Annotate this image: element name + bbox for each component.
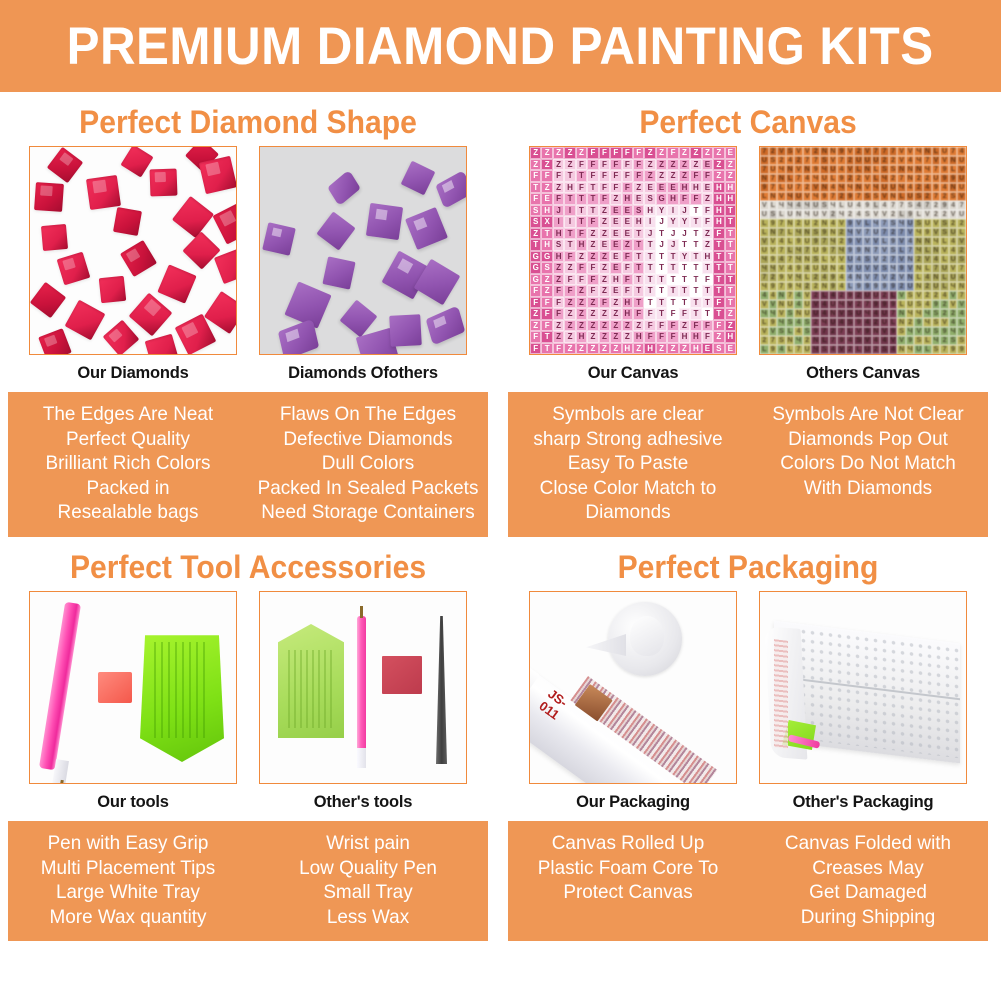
- canvas-symbol-cell: 9: [949, 345, 958, 354]
- canvas-symbol-cell: S: [541, 262, 552, 274]
- canvas-symbol-cell: T: [725, 205, 736, 217]
- canvas-symbol-cell: V: [803, 147, 812, 156]
- canvas-symbol-cell: Y: [656, 205, 667, 217]
- facet: [108, 328, 123, 343]
- canvas-symbol-cell: 9: [846, 219, 855, 228]
- canvas-symbol-cell: Z: [587, 320, 598, 332]
- canvas-symbol-cell: E: [610, 216, 621, 228]
- canvas-symbol-cell: N: [949, 183, 958, 192]
- canvas-symbol-cell: V: [897, 147, 906, 156]
- info-line: Defective Diamonds: [254, 427, 483, 452]
- canvas-symbol-cell: U: [957, 156, 966, 165]
- canvas-symbol-cell: Z: [587, 297, 598, 309]
- info-line: Wrist pain: [254, 831, 483, 856]
- canvas-symbol-cell: 2: [932, 201, 941, 210]
- canvas-symbol-cell: 7: [889, 309, 898, 318]
- section-canvas: Perfect Canvas ZZZZZFFFFFZZFZZZZEZZZZFFF…: [508, 100, 988, 537]
- canvas-symbol-cell: L: [777, 183, 786, 192]
- canvas-symbol-cell: 7: [923, 354, 932, 355]
- canvas-symbol-cell: 7: [889, 147, 898, 156]
- canvas-symbol-cell: Ч: [837, 246, 846, 255]
- canvas-symbol-cell: 7: [820, 327, 829, 336]
- canvas-symbol-cell: E: [599, 239, 610, 251]
- canvas-symbol-cell: T: [644, 262, 655, 274]
- canvas-symbol-cell: V: [769, 237, 778, 246]
- canvas-symbol-cell: 2: [803, 336, 812, 345]
- canvas-symbol-cell: E: [725, 343, 736, 355]
- canvas-symbol-cell: F: [530, 170, 541, 182]
- canvas-symbol-cell: L: [854, 345, 863, 354]
- canvas-symbol-cell: G: [530, 262, 541, 274]
- canvas-symbol-cell: 7: [872, 273, 881, 282]
- canvas-symbol-cell: T: [644, 251, 655, 263]
- canvas-symbol-cell: T: [541, 331, 552, 343]
- canvas-symbol-cell: F: [610, 159, 621, 171]
- diamond-drill: [99, 276, 126, 303]
- canvas-symbol-cell: V: [940, 246, 949, 255]
- info-col-theirs: Flaws On The Edges Defective Diamonds Du…: [252, 402, 485, 525]
- canvas-symbol-cell: 9: [880, 300, 889, 309]
- canvas-symbol-cell: T: [633, 228, 644, 240]
- canvas-symbol-cell: T: [679, 297, 690, 309]
- canvas-symbol-cell: V: [949, 300, 958, 309]
- canvas-symbol-cell: S: [914, 192, 923, 201]
- canvas-symbol-cell: 2: [957, 246, 966, 255]
- canvas-symbol-cell: F: [679, 308, 690, 320]
- canvas-symbol-cell: L: [786, 237, 795, 246]
- canvas-symbol-cell: Ч: [906, 327, 915, 336]
- canvas-symbol-cell: F: [644, 308, 655, 320]
- canvas-symbol-cell: U: [872, 291, 881, 300]
- canvas-symbol-cell: U: [811, 264, 820, 273]
- canvas-symbol-cell: V: [760, 201, 769, 210]
- canvas-symbol-cell: 2: [846, 174, 855, 183]
- canvas-symbol-cell: 4: [949, 237, 958, 246]
- canvas-symbol-cell: Ч: [846, 183, 855, 192]
- canvas-symbol-cell: N: [914, 165, 923, 174]
- canvas-symbol-cell: 4: [829, 345, 838, 354]
- canvas-symbol-cell: Z: [622, 320, 633, 332]
- canvas-symbol-cell: 7: [880, 147, 889, 156]
- canvas-symbol-cell: F: [622, 147, 633, 159]
- canvas-symbol-cell: Z: [587, 239, 598, 251]
- canvas-symbol-cell: Z: [564, 147, 575, 159]
- canvas-symbol-cell: U: [940, 264, 949, 273]
- canvas-symbol-cell: 7: [957, 201, 966, 210]
- canvas-symbol-cell: 7: [872, 147, 881, 156]
- canvas-symbol-cell: E: [702, 159, 713, 171]
- canvas-symbol-cell: F: [576, 228, 587, 240]
- canvas-symbol-cell: Z: [599, 308, 610, 320]
- canvas-symbol-cell: V: [932, 219, 941, 228]
- canvas-symbol-cell: F: [576, 159, 587, 171]
- canvas-symbol-cell: V: [906, 147, 915, 156]
- canvas-symbol-cell: Ч: [777, 165, 786, 174]
- canvas-symbol-cell: T: [576, 170, 587, 182]
- canvas-symbol-cell: J: [644, 228, 655, 240]
- caption-other-tools: Other's tools: [259, 784, 467, 812]
- photo-our-packaging: JS-011: [529, 591, 737, 784]
- canvas-symbol-cell: F: [622, 262, 633, 274]
- canvas-symbol-cell: Z: [633, 182, 644, 194]
- canvas-symbol-cell: U: [760, 246, 769, 255]
- canvas-symbol-cell: 2: [923, 282, 932, 291]
- canvas-symbol-cell: 4: [940, 183, 949, 192]
- canvas-symbol-cell: 2: [897, 282, 906, 291]
- canvas-symbol-cell: U: [932, 174, 941, 183]
- canvas-symbol-cell: F: [587, 274, 598, 286]
- canvas-symbol-cell: Z: [564, 320, 575, 332]
- canvas-symbol-cell: 2: [932, 210, 941, 219]
- canvas-symbol-cell: L: [940, 282, 949, 291]
- canvas-symbol-cell: T: [690, 251, 701, 263]
- canvas-symbol-cell: F: [667, 331, 678, 343]
- photo-other-diamonds: [259, 146, 467, 355]
- canvas-symbol-cell: S: [872, 192, 881, 201]
- canvas-symbol-cell: 9: [940, 201, 949, 210]
- canvas-symbol-cell: 9: [846, 192, 855, 201]
- canvas-symbol-cell: U: [846, 354, 855, 355]
- canvas-symbol-cell: V: [837, 345, 846, 354]
- info-line: Close Color Match to: [514, 476, 743, 501]
- canvas-symbol-cell: V: [820, 210, 829, 219]
- canvas-symbol-cell: F: [530, 331, 541, 343]
- canvas-symbol-cell: 9: [889, 354, 898, 355]
- canvas-symbol-cell: V: [957, 192, 966, 201]
- canvas-symbol-cell: V: [863, 183, 872, 192]
- canvas-symbol-cell: E: [702, 343, 713, 355]
- canvas-symbol-cell: 9: [897, 264, 906, 273]
- canvas-symbol-cell: Z: [553, 274, 564, 286]
- info-line: Protect Canvas: [514, 880, 743, 905]
- canvas-symbol-cell: T: [656, 262, 667, 274]
- canvas-symbol-cell: 9: [872, 282, 881, 291]
- canvas-symbol-cell: N: [786, 219, 795, 228]
- canvas-symbol-cell: 7: [932, 192, 941, 201]
- canvas-symbol-cell: 4: [846, 273, 855, 282]
- canvas-symbol-cell: V: [872, 264, 881, 273]
- canvas-symbol-cell: L: [897, 192, 906, 201]
- canvas-symbol-cell: T: [633, 251, 644, 263]
- canvas-symbol-cell: U: [829, 300, 838, 309]
- canvas-symbol-cell: 7: [760, 165, 769, 174]
- canvas-symbol-cell: N: [949, 156, 958, 165]
- canvas-symbol-cell: Z: [541, 147, 552, 159]
- canvas-symbol-cell: H: [622, 308, 633, 320]
- canvas-symbol-cell: V: [837, 309, 846, 318]
- canvas-symbol-cell: V: [897, 255, 906, 264]
- canvas-symbol-cell: 9: [846, 291, 855, 300]
- canvas-symbol-cell: T: [690, 228, 701, 240]
- canvas-symbol-cell: V: [760, 327, 769, 336]
- canvas-symbol-cell: N: [914, 237, 923, 246]
- canvas-symbol-cell: N: [914, 264, 923, 273]
- canvas-symbol-cell: V: [863, 174, 872, 183]
- section-title: Perfect Tool Accessories: [22, 545, 473, 591]
- canvas-symbol-cell: L: [820, 291, 829, 300]
- canvas-symbol-cell: V: [906, 228, 915, 237]
- canvas-symbol-cell: 4: [794, 327, 803, 336]
- tray-grooves: [154, 642, 210, 738]
- info-line: Multi Placement Tips: [14, 856, 243, 881]
- canvas-symbol-cell: F: [541, 170, 552, 182]
- canvas-symbol-cell: 9: [854, 318, 863, 327]
- canvas-symbol-cell: F: [690, 320, 701, 332]
- info-line: Dull Colors: [254, 451, 483, 476]
- canvas-symbol-cell: U: [811, 246, 820, 255]
- facet: [433, 316, 446, 329]
- canvas-symbol-cell: Z: [599, 216, 610, 228]
- canvas-symbol-cell: 2: [923, 192, 932, 201]
- caption-other-canvas: Others Canvas: [759, 355, 967, 383]
- canvas-symbol-cell: L: [786, 246, 795, 255]
- facet: [40, 185, 52, 196]
- canvas-symbol-cell: N: [923, 237, 932, 246]
- canvas-symbol-cell: 2: [932, 291, 941, 300]
- canvas-symbol-cell: 2: [854, 300, 863, 309]
- canvas-symbol-cell: 9: [794, 237, 803, 246]
- diamond-drill: [150, 169, 178, 197]
- canvas-symbol-cell: J: [667, 239, 678, 251]
- canvas-symbol-cell: T: [725, 228, 736, 240]
- canvas-symbol-cell: 9: [957, 345, 966, 354]
- canvas-symbol-cell: 2: [940, 210, 949, 219]
- canvas-symbol-cell: F: [713, 297, 724, 309]
- canvas-symbol-cell: 9: [949, 174, 958, 183]
- canvas-symbol-cell: 7: [854, 192, 863, 201]
- canvas-symbol-cell: 4: [794, 300, 803, 309]
- canvas-symbol-cell: 4: [837, 264, 846, 273]
- canvas-symbol-cell: S: [811, 255, 820, 264]
- canvas-symbol-cell: F: [553, 170, 564, 182]
- canvas-symbol-cell: T: [702, 297, 713, 309]
- canvas-symbol-cell: 4: [863, 318, 872, 327]
- canvas-symbol-cell: 4: [760, 354, 769, 355]
- canvas-symbol-cell: 7: [863, 300, 872, 309]
- canvas-symbol-cell: S: [769, 156, 778, 165]
- canvas-symbol-cell: S: [644, 193, 655, 205]
- canvas-symbol-cell: F: [702, 216, 713, 228]
- canvas-symbol-cell: H: [610, 274, 621, 286]
- canvas-symbol-cell: 9: [889, 237, 898, 246]
- canvas-symbol-cell: H: [576, 331, 587, 343]
- info-line: Symbols Are Not Clear: [754, 402, 983, 427]
- canvas-symbol-cell: S: [914, 336, 923, 345]
- facet: [62, 257, 76, 270]
- canvas-symbol-cell: F: [644, 331, 655, 343]
- canvas-symbol-cell: Ч: [769, 309, 778, 318]
- canvas-symbol-cell: U: [906, 192, 915, 201]
- canvas-symbol-cell: 7: [811, 156, 820, 165]
- canvas-symbol-cell: 9: [777, 273, 786, 282]
- canvas-symbol-cell: 4: [957, 147, 966, 156]
- canvas-symbol-cell: 2: [889, 273, 898, 282]
- canvas-symbol-cell: 7: [794, 183, 803, 192]
- canvas-symbol-cell: Ч: [914, 228, 923, 237]
- canvas-symbol-cell: Z: [530, 320, 541, 332]
- canvas-symbol-cell: 9: [846, 246, 855, 255]
- canvas-symbol-cell: 9: [829, 282, 838, 291]
- canvas-symbol-cell: N: [914, 354, 923, 355]
- canvas-symbol-cell: 7: [820, 237, 829, 246]
- canvas-symbol-cell: U: [829, 318, 838, 327]
- canvas-symbol-cell: F: [599, 182, 610, 194]
- canvas-symbol-cell: L: [837, 201, 846, 210]
- canvas-symbol-cell: 2: [811, 273, 820, 282]
- canvas-symbol-cell: T: [713, 285, 724, 297]
- canvas-symbol-cell: V: [872, 210, 881, 219]
- canvas-symbol-cell: H: [702, 251, 713, 263]
- canvas-symbol-cell: H: [713, 193, 724, 205]
- canvas-symbol-cell: N: [897, 345, 906, 354]
- canvas-symbol-cell: 9: [829, 273, 838, 282]
- canvas-symbol-cell: V: [769, 246, 778, 255]
- canvas-symbol-cell: 4: [829, 219, 838, 228]
- canvas-symbol-cell: V: [837, 255, 846, 264]
- canvas-symbol-cell: U: [794, 192, 803, 201]
- canvas-symbol-cell: L: [786, 345, 795, 354]
- facet: [126, 248, 141, 263]
- canvas-symbol-cell: F: [587, 159, 598, 171]
- canvas-symbol-cell: U: [846, 201, 855, 210]
- canvas-symbol-cell: Z: [679, 159, 690, 171]
- canvas-symbol-cell: Z: [599, 262, 610, 274]
- canvas-symbol-cell: 4: [846, 336, 855, 345]
- canvas-symbol-cell: N: [820, 183, 829, 192]
- canvas-symbol-cell: H: [725, 182, 736, 194]
- canvas-symbol-cell: Ч: [906, 345, 915, 354]
- caption-our-canvas: Our Canvas: [529, 355, 737, 383]
- canvas-symbol-cell: Z: [576, 297, 587, 309]
- canvas-symbol-cell: 7: [769, 336, 778, 345]
- canvas-symbol-cell: 7: [837, 354, 846, 355]
- canvas-symbol-cell: 4: [786, 156, 795, 165]
- canvas-symbol-cell: T: [564, 228, 575, 240]
- canvas-symbol-cell: V: [777, 309, 786, 318]
- canvas-symbol-cell: U: [880, 183, 889, 192]
- canvas-symbol-cell: Z: [610, 297, 621, 309]
- canvas-symbol-cell: E: [667, 182, 678, 194]
- canvas-symbol-cell: N: [957, 282, 966, 291]
- canvas-symbol-cell: U: [786, 210, 795, 219]
- canvas-symbol-cell: Z: [564, 308, 575, 320]
- canvas-symbol-cell: 2: [811, 318, 820, 327]
- canvas-symbol-cell: Z: [553, 320, 564, 332]
- canvas-symbol-cell: S: [863, 255, 872, 264]
- canvas-symbol-cell: N: [820, 219, 829, 228]
- canvas-symbol-cell: G: [530, 251, 541, 263]
- canvas-symbol-cell: V: [769, 327, 778, 336]
- canvas-symbol-cell: T: [633, 239, 644, 251]
- canvas-symbol-cell: V: [880, 192, 889, 201]
- canvas-symbol-cell: 7: [803, 156, 812, 165]
- canvas-symbol-cell: L: [760, 192, 769, 201]
- canvas-symbol-cell: 2: [940, 336, 949, 345]
- canvas-symbol-cell: H: [667, 193, 678, 205]
- canvas-symbol-cell: J: [656, 239, 667, 251]
- canvas-symbol-cell: 9: [940, 165, 949, 174]
- canvas-symbol-cell: 4: [786, 264, 795, 273]
- canvas-symbol-cell: 7: [786, 291, 795, 300]
- canvas-symbol-cell: V: [854, 219, 863, 228]
- info-line: More Wax quantity: [14, 905, 243, 930]
- canvas-symbol-cell: U: [872, 156, 881, 165]
- canvas-symbol-cell: F: [530, 285, 541, 297]
- canvas-symbol-cell: Ч: [906, 309, 915, 318]
- canvas-symbol-cell: Z: [587, 331, 598, 343]
- canvas-symbol-cell: L: [846, 282, 855, 291]
- info-banner-tools: Pen with Easy Grip Multi Placement Tips …: [8, 821, 488, 941]
- canvas-symbol-cell: 2: [906, 318, 915, 327]
- canvas-symbol-cell: U: [957, 174, 966, 183]
- info-line: Brilliant Rich Colors: [14, 451, 243, 476]
- canvas-symbol-cell: 7: [940, 345, 949, 354]
- canvas-symbol-cell: 2: [880, 291, 889, 300]
- canvas-symbol-cell: T: [679, 274, 690, 286]
- section-diamond-shape: Perfect Diamond Shape Our Diamonds Diamo…: [8, 100, 488, 537]
- canvas-symbol-cell: Z: [702, 147, 713, 159]
- canvas-symbol-cell: F: [713, 320, 724, 332]
- canvas-symbol-cell: E: [610, 205, 621, 217]
- canvas-symbol-cell: Z: [530, 308, 541, 320]
- pen-needle: [360, 606, 363, 618]
- canvas-symbol-cell: Z: [679, 170, 690, 182]
- canvas-symbol-cell: Z: [587, 343, 598, 355]
- canvas-symbol-cell: L: [940, 237, 949, 246]
- canvas-symbol-cell: T: [725, 216, 736, 228]
- info-line: Packed in: [14, 476, 243, 501]
- canvas-symbol-cell: Ч: [914, 147, 923, 156]
- canvas-symbol-cell: 2: [914, 255, 923, 264]
- canvas-symbol-cell: 4: [777, 255, 786, 264]
- canvas-symbol-cell: J: [679, 205, 690, 217]
- canvas-symbol-cell: T: [576, 193, 587, 205]
- canvas-symbol-cell: 7: [829, 192, 838, 201]
- canvas-symbol-cell: T: [690, 274, 701, 286]
- diamond-drill: [322, 256, 355, 289]
- canvas-symbol-cell: Ч: [880, 354, 889, 355]
- canvas-symbol-cell: T: [667, 297, 678, 309]
- canvas-symbol-cell: Z: [644, 147, 655, 159]
- canvas-symbol-cell: 4: [820, 300, 829, 309]
- canvas-symbol-cell: Ч: [837, 183, 846, 192]
- canvas-symbol-cell: F: [622, 285, 633, 297]
- canvas-symbol-cell: N: [863, 246, 872, 255]
- canvas-symbol-cell: U: [769, 165, 778, 174]
- canvas-symbol-cell: H: [690, 343, 701, 355]
- canvas-symbol-cell: U: [829, 165, 838, 174]
- canvas-symbol-cell: Ч: [923, 165, 932, 174]
- canvas-symbol-cell: 9: [769, 282, 778, 291]
- canvas-symbol-cell: F: [587, 262, 598, 274]
- canvas-symbol-cell: Z: [576, 343, 587, 355]
- page-title: PREMIUM DIAMOND PAINTING KITS: [67, 16, 934, 77]
- canvas-symbol-cell: T: [644, 239, 655, 251]
- canvas-symbol-cell: 7: [897, 228, 906, 237]
- caption-other-packaging: Other's Packaging: [759, 784, 967, 812]
- canvas-symbol-cell: 2: [949, 219, 958, 228]
- canvas-symbol-cell: 7: [949, 354, 958, 355]
- canvas-symbol-cell: 4: [872, 336, 881, 345]
- canvas-symbol-cell: Ч: [949, 282, 958, 291]
- canvas-symbol-cell: 4: [794, 201, 803, 210]
- canvas-symbol-cell: V: [803, 192, 812, 201]
- canvas-symbol-cell: S: [769, 210, 778, 219]
- photo-other-packaging: [759, 591, 967, 784]
- canvas-symbol-cell: U: [811, 210, 820, 219]
- section-packaging: Perfect Packaging JS-011 Our Packaging O…: [508, 545, 988, 941]
- canvas-symbol-cell: T: [679, 262, 690, 274]
